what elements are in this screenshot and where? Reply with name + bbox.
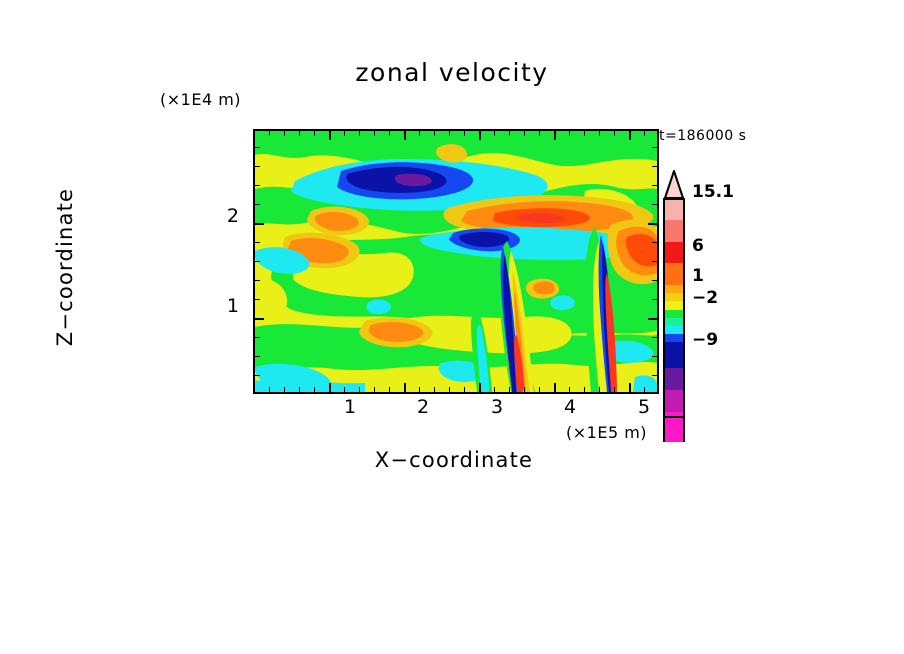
x-tick-top-minor <box>389 131 390 136</box>
x-tick-top-minor <box>644 131 645 136</box>
colorbar-band <box>663 301 685 310</box>
x-tick-major <box>329 383 331 392</box>
colorbar[interactable] <box>663 170 685 390</box>
y-tick-major <box>255 318 264 320</box>
x-tick-top-minor <box>464 131 465 136</box>
y-tick-right-minor <box>652 280 657 281</box>
x-axis-unit-label: (×1E5 m) <box>566 423 647 442</box>
colorbar-band <box>663 326 685 334</box>
y-tick-right-major <box>648 318 657 320</box>
x-tick-top-minor <box>569 131 570 136</box>
y-axis-title: Z−coordinate <box>53 127 77 407</box>
x-tick-top-major <box>329 131 331 140</box>
colorbar-tick-label: −2 <box>692 288 718 308</box>
colorbar-band <box>663 412 685 442</box>
time-annotation: t=186000 s <box>659 128 746 144</box>
y-tick-minor <box>255 147 260 148</box>
colorbar-band <box>663 390 685 412</box>
x-tick-top-minor <box>299 131 300 136</box>
y-tick-right-minor <box>652 242 657 243</box>
y-tick-right-minor <box>652 147 657 148</box>
y-tick-right-minor <box>652 375 657 376</box>
y-tick-minor <box>255 166 260 167</box>
x-tick-top-minor <box>314 131 315 136</box>
colorbar-band <box>663 263 685 285</box>
colorbar-band <box>663 342 685 368</box>
colorbar-band <box>663 334 685 342</box>
x-tick-top-minor <box>434 131 435 136</box>
colorbar-tick-label: 1 <box>692 266 704 286</box>
y-tick-right-major <box>648 223 657 225</box>
y-tick-minor <box>255 261 260 262</box>
x-tick-minor <box>269 387 270 392</box>
x-tick-top-minor <box>344 131 345 136</box>
x-tick-major <box>629 383 631 392</box>
y-tick-minor <box>255 337 260 338</box>
y-tick-minor <box>255 299 260 300</box>
y-tick-minor <box>255 242 260 243</box>
x-tick-minor <box>539 387 540 392</box>
colorbar-band <box>663 198 685 220</box>
x-tick-top-minor <box>269 131 270 136</box>
x-tick-label: 4 <box>550 396 590 418</box>
y-tick-right-minor <box>652 204 657 205</box>
x-tick-minor <box>599 387 600 392</box>
x-tick-top-minor <box>584 131 585 136</box>
x-tick-minor <box>524 387 525 392</box>
x-tick-minor <box>359 387 360 392</box>
colorbar-tick-label: 6 <box>692 236 704 256</box>
colorbar-band <box>663 368 685 390</box>
y-tick-minor <box>255 204 260 205</box>
x-tick-minor <box>419 387 420 392</box>
x-tick-minor <box>509 387 510 392</box>
colorbar-band <box>663 310 685 318</box>
colorbar-band <box>663 242 685 263</box>
x-tick-top-minor <box>509 131 510 136</box>
x-tick-top-minor <box>374 131 375 136</box>
x-tick-label: 2 <box>403 396 443 418</box>
y-tick-major <box>255 223 264 225</box>
figure-canvas: zonal velocity (×1E4 m) t=186000 s Z−coo… <box>0 0 904 654</box>
x-tick-minor <box>314 387 315 392</box>
x-tick-minor <box>374 387 375 392</box>
x-tick-top-minor <box>524 131 525 136</box>
y-tick-minor <box>255 356 260 357</box>
x-axis-title: X−coordinate <box>253 448 655 472</box>
x-tick-minor <box>434 387 435 392</box>
x-tick-minor <box>284 387 285 392</box>
x-tick-minor <box>569 387 570 392</box>
y-tick-minor <box>255 280 260 281</box>
contour-field <box>255 131 657 392</box>
y-tick-right-minor <box>652 185 657 186</box>
colorbar-tick-label: −9 <box>692 330 718 350</box>
x-tick-minor <box>494 387 495 392</box>
x-tick-minor <box>614 387 615 392</box>
x-tick-top-major <box>629 131 631 140</box>
y-tick-minor <box>255 185 260 186</box>
x-tick-major <box>479 383 481 392</box>
colorbar-tick-label: 15.1 <box>692 182 734 202</box>
colorbar-band <box>663 220 685 242</box>
x-tick-top-major <box>404 131 406 140</box>
x-tick-major <box>404 383 406 392</box>
x-tick-minor <box>449 387 450 392</box>
y-tick-label: 1 <box>213 295 239 317</box>
x-tick-major <box>554 383 556 392</box>
x-tick-top-major <box>479 131 481 140</box>
x-tick-top-minor <box>614 131 615 136</box>
colorbar-band <box>663 318 685 326</box>
x-tick-minor <box>299 387 300 392</box>
x-tick-minor <box>389 387 390 392</box>
x-tick-top-minor <box>539 131 540 136</box>
y-tick-label: 2 <box>213 205 239 227</box>
x-tick-minor <box>644 387 645 392</box>
x-tick-top-minor <box>419 131 420 136</box>
colorbar-band <box>663 293 685 301</box>
colorbar-band <box>663 285 685 293</box>
x-tick-top-minor <box>284 131 285 136</box>
contour-plot-area <box>253 129 659 394</box>
y-tick-right-minor <box>652 261 657 262</box>
x-tick-minor <box>584 387 585 392</box>
x-tick-label: 1 <box>330 396 370 418</box>
x-tick-minor <box>464 387 465 392</box>
y-tick-right-minor <box>652 356 657 357</box>
x-tick-top-minor <box>494 131 495 136</box>
y-tick-right-minor <box>652 337 657 338</box>
y-tick-minor <box>255 375 260 376</box>
chart-title: zonal velocity <box>0 58 904 87</box>
x-tick-top-major <box>554 131 556 140</box>
y-axis-unit-label: (×1E4 m) <box>160 90 241 109</box>
x-tick-top-minor <box>599 131 600 136</box>
x-tick-label: 5 <box>624 396 664 418</box>
x-tick-top-minor <box>449 131 450 136</box>
x-tick-label: 3 <box>477 396 517 418</box>
y-tick-right-minor <box>652 299 657 300</box>
x-tick-minor <box>344 387 345 392</box>
x-tick-top-minor <box>359 131 360 136</box>
y-tick-right-minor <box>652 166 657 167</box>
